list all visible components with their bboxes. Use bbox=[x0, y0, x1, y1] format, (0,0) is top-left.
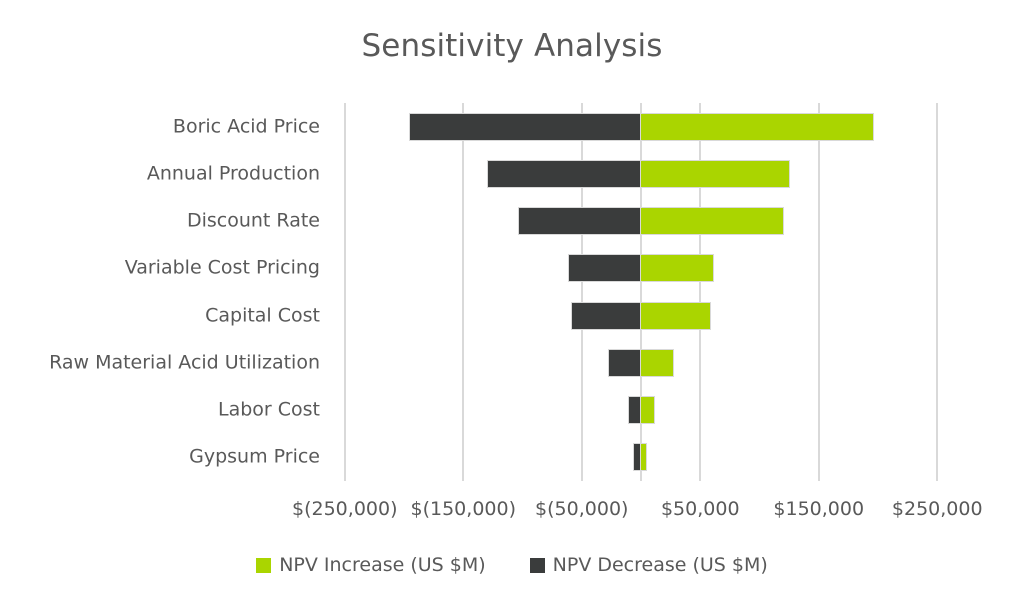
bar-npv-increase[interactable] bbox=[641, 255, 713, 281]
category-label: Boric Acid Price bbox=[173, 117, 320, 136]
legend-item[interactable]: NPV Increase (US $M) bbox=[256, 556, 485, 575]
chart-legend: NPV Increase (US $M)NPV Decrease (US $M) bbox=[0, 556, 1024, 575]
x-tick-label: $50,000 bbox=[661, 498, 740, 520]
x-tick-label: $(250,000) bbox=[292, 498, 397, 520]
x-tick-label: $(50,000) bbox=[535, 498, 628, 520]
bar-npv-decrease[interactable] bbox=[410, 114, 641, 140]
chart-row: Annual Production bbox=[0, 150, 1024, 197]
bar-npv-decrease[interactable] bbox=[609, 350, 641, 376]
chart-title: Sensitivity Analysis bbox=[0, 28, 1024, 64]
x-tick-label: $150,000 bbox=[773, 498, 864, 520]
bar-npv-decrease[interactable] bbox=[634, 444, 641, 470]
bar-npv-increase[interactable] bbox=[641, 161, 789, 187]
category-label: Gypsum Price bbox=[189, 448, 320, 467]
chart-row: Discount Rate bbox=[0, 198, 1024, 245]
plot-area: Boric Acid PriceAnnual ProductionDiscoun… bbox=[0, 103, 1024, 481]
chart-row: Raw Material Acid Utilization bbox=[0, 339, 1024, 386]
chart-row: Boric Acid Price bbox=[0, 103, 1024, 150]
bar-npv-increase[interactable] bbox=[641, 303, 710, 329]
legend-item[interactable]: NPV Decrease (US $M) bbox=[530, 556, 768, 575]
bar-npv-decrease[interactable] bbox=[572, 303, 641, 329]
category-label: Discount Rate bbox=[187, 212, 320, 231]
bar-npv-increase[interactable] bbox=[641, 208, 783, 234]
category-label: Capital Cost bbox=[205, 306, 320, 325]
chart-row: Capital Cost bbox=[0, 292, 1024, 339]
bar-rows: Boric Acid PriceAnnual ProductionDiscoun… bbox=[0, 103, 1024, 481]
legend-swatch-icon bbox=[256, 558, 271, 573]
category-label: Annual Production bbox=[147, 164, 320, 183]
bar-npv-decrease[interactable] bbox=[488, 161, 641, 187]
legend-label: NPV Decrease (US $M) bbox=[553, 556, 768, 575]
bar-npv-decrease[interactable] bbox=[629, 397, 641, 423]
x-tick-label: $250,000 bbox=[892, 498, 983, 520]
chart-row: Gypsum Price bbox=[0, 434, 1024, 481]
x-tick-label: $(150,000) bbox=[411, 498, 516, 520]
category-label: Labor Cost bbox=[218, 401, 320, 420]
sensitivity-analysis-chart: Sensitivity Analysis Boric Acid PriceAnn… bbox=[0, 0, 1024, 614]
legend-label: NPV Increase (US $M) bbox=[279, 556, 485, 575]
category-label: Variable Cost Pricing bbox=[125, 259, 320, 278]
x-axis-tick-labels: $(250,000)$(150,000)$(50,000)$50,000$150… bbox=[0, 498, 1024, 532]
bar-npv-increase[interactable] bbox=[641, 350, 673, 376]
bar-npv-decrease[interactable] bbox=[519, 208, 641, 234]
bar-npv-increase[interactable] bbox=[641, 444, 646, 470]
chart-row: Variable Cost Pricing bbox=[0, 245, 1024, 292]
chart-row: Labor Cost bbox=[0, 387, 1024, 434]
bar-npv-increase[interactable] bbox=[641, 114, 873, 140]
legend-swatch-icon bbox=[530, 558, 545, 573]
bar-npv-decrease[interactable] bbox=[569, 255, 641, 281]
category-label: Raw Material Acid Utilization bbox=[49, 353, 320, 372]
bar-npv-increase[interactable] bbox=[641, 397, 654, 423]
